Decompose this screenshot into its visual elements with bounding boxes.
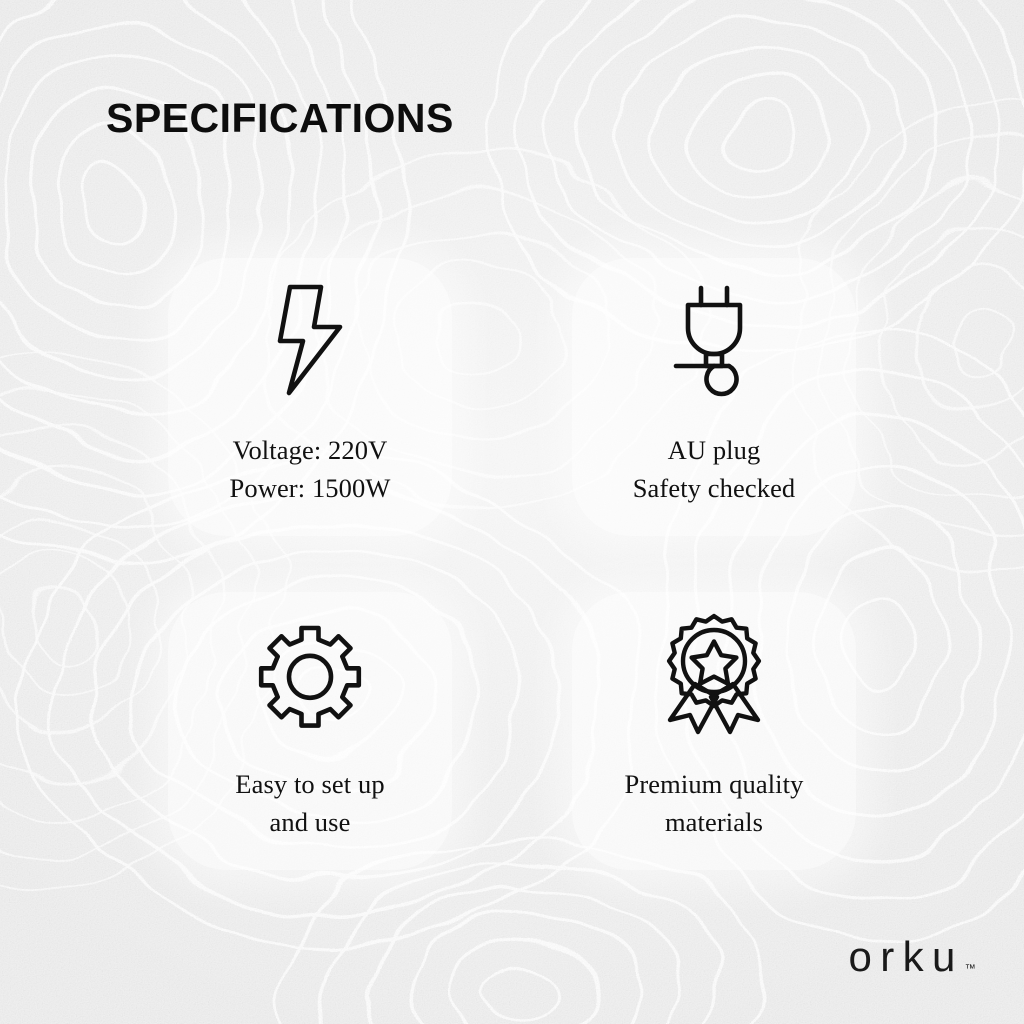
- spec-line: AU plug: [633, 432, 796, 470]
- spec-line: Easy to set up: [235, 766, 384, 804]
- spec-line: Premium quality: [625, 766, 804, 804]
- spec-line: Power: 1500W: [230, 470, 391, 508]
- spec-card-text: AU plug Safety checked: [633, 432, 796, 507]
- specification-card-grid: Voltage: 220V Power: 1500W: [168, 258, 856, 870]
- trademark-symbol: ™: [965, 964, 976, 975]
- page-title: SPECIFICATIONS: [106, 98, 454, 139]
- spec-card-easy-setup: Easy to set up and use: [168, 592, 452, 870]
- spec-card-text: Easy to set up and use: [235, 766, 384, 841]
- spec-card-au-plug: AU plug Safety checked: [572, 258, 856, 536]
- brand-logo: orku ™: [848, 936, 976, 978]
- lightning-bolt-icon: [273, 280, 347, 400]
- power-plug-icon: [668, 280, 760, 400]
- spec-line: Voltage: 220V: [230, 432, 391, 470]
- spec-line: Safety checked: [633, 470, 796, 508]
- specifications-infographic: SPECIFICATIONS Voltage: 220V Power: 1500…: [0, 0, 1024, 1024]
- spec-card-text: Voltage: 220V Power: 1500W: [230, 432, 391, 507]
- gear-icon: [260, 614, 360, 734]
- spec-line: materials: [625, 804, 804, 842]
- spec-card-premium-quality: Premium quality materials: [572, 592, 856, 870]
- spec-card-voltage-power: Voltage: 220V Power: 1500W: [168, 258, 452, 536]
- spec-card-text: Premium quality materials: [625, 766, 804, 841]
- award-badge-icon: [664, 614, 764, 734]
- brand-logo-wordmark: orku: [848, 936, 963, 978]
- spec-line: and use: [235, 804, 384, 842]
